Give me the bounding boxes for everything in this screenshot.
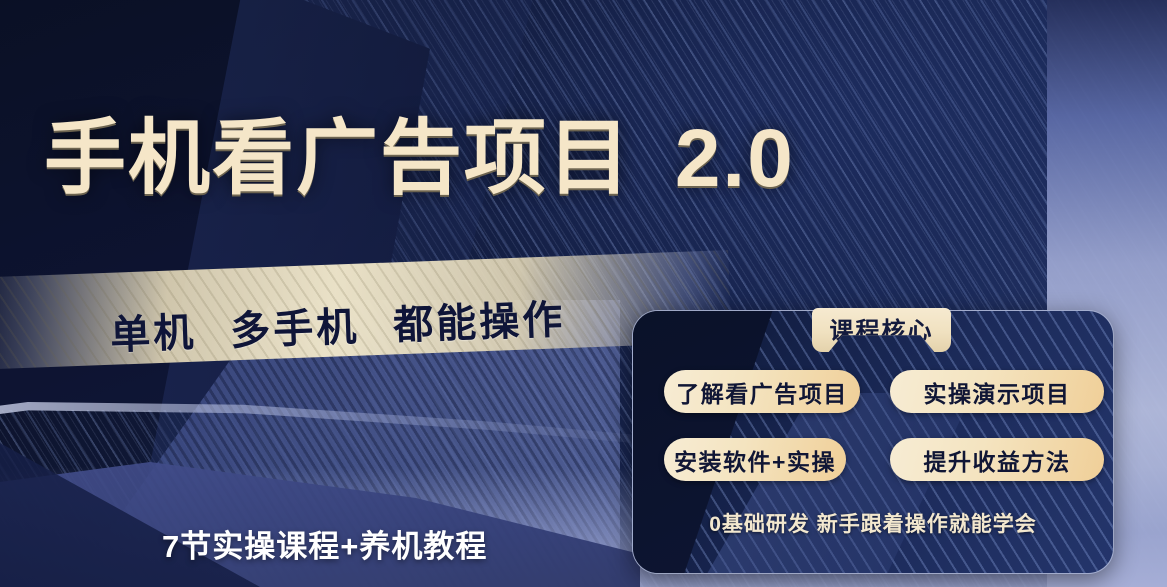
page-title-version: 2.0 xyxy=(675,113,795,204)
course-pill-3[interactable]: 安装软件+实操 xyxy=(664,438,846,481)
slogan-part-3: 都能操作 xyxy=(393,298,566,348)
course-pill-3-label: 安装软件+实操 xyxy=(674,443,836,477)
course-card-footnote: 0基础研发 新手跟着操作就能学会 xyxy=(632,508,1114,538)
promo-poster: 手机看广告项目 2.0 单机 多手机 都能操作 课程核心 了解看广告项目 实操演… xyxy=(0,0,1167,587)
course-pill-4[interactable]: 提升收益方法 xyxy=(890,438,1104,481)
course-pill-2-label: 实操演示项目 xyxy=(924,375,1071,409)
course-pill-4-label: 提升收益方法 xyxy=(924,443,1071,477)
course-count-caption: 7节实操课程+养机教程 xyxy=(162,521,487,566)
course-core-pill-grid: 了解看广告项目 实操演示项目 安装软件+实操 提升收益方法 xyxy=(632,368,1132,494)
slogan-part-1: 单机 xyxy=(110,311,197,358)
course-pill-2[interactable]: 实操演示项目 xyxy=(890,370,1104,413)
slogan-part-2: 多手机 xyxy=(230,305,360,353)
course-pill-1-label: 了解看广告项目 xyxy=(676,375,848,409)
page-title-main: 手机看广告项目 xyxy=(44,113,632,204)
page-title: 手机看广告项目 2.0 xyxy=(44,118,795,200)
course-pill-1[interactable]: 了解看广告项目 xyxy=(664,370,860,413)
